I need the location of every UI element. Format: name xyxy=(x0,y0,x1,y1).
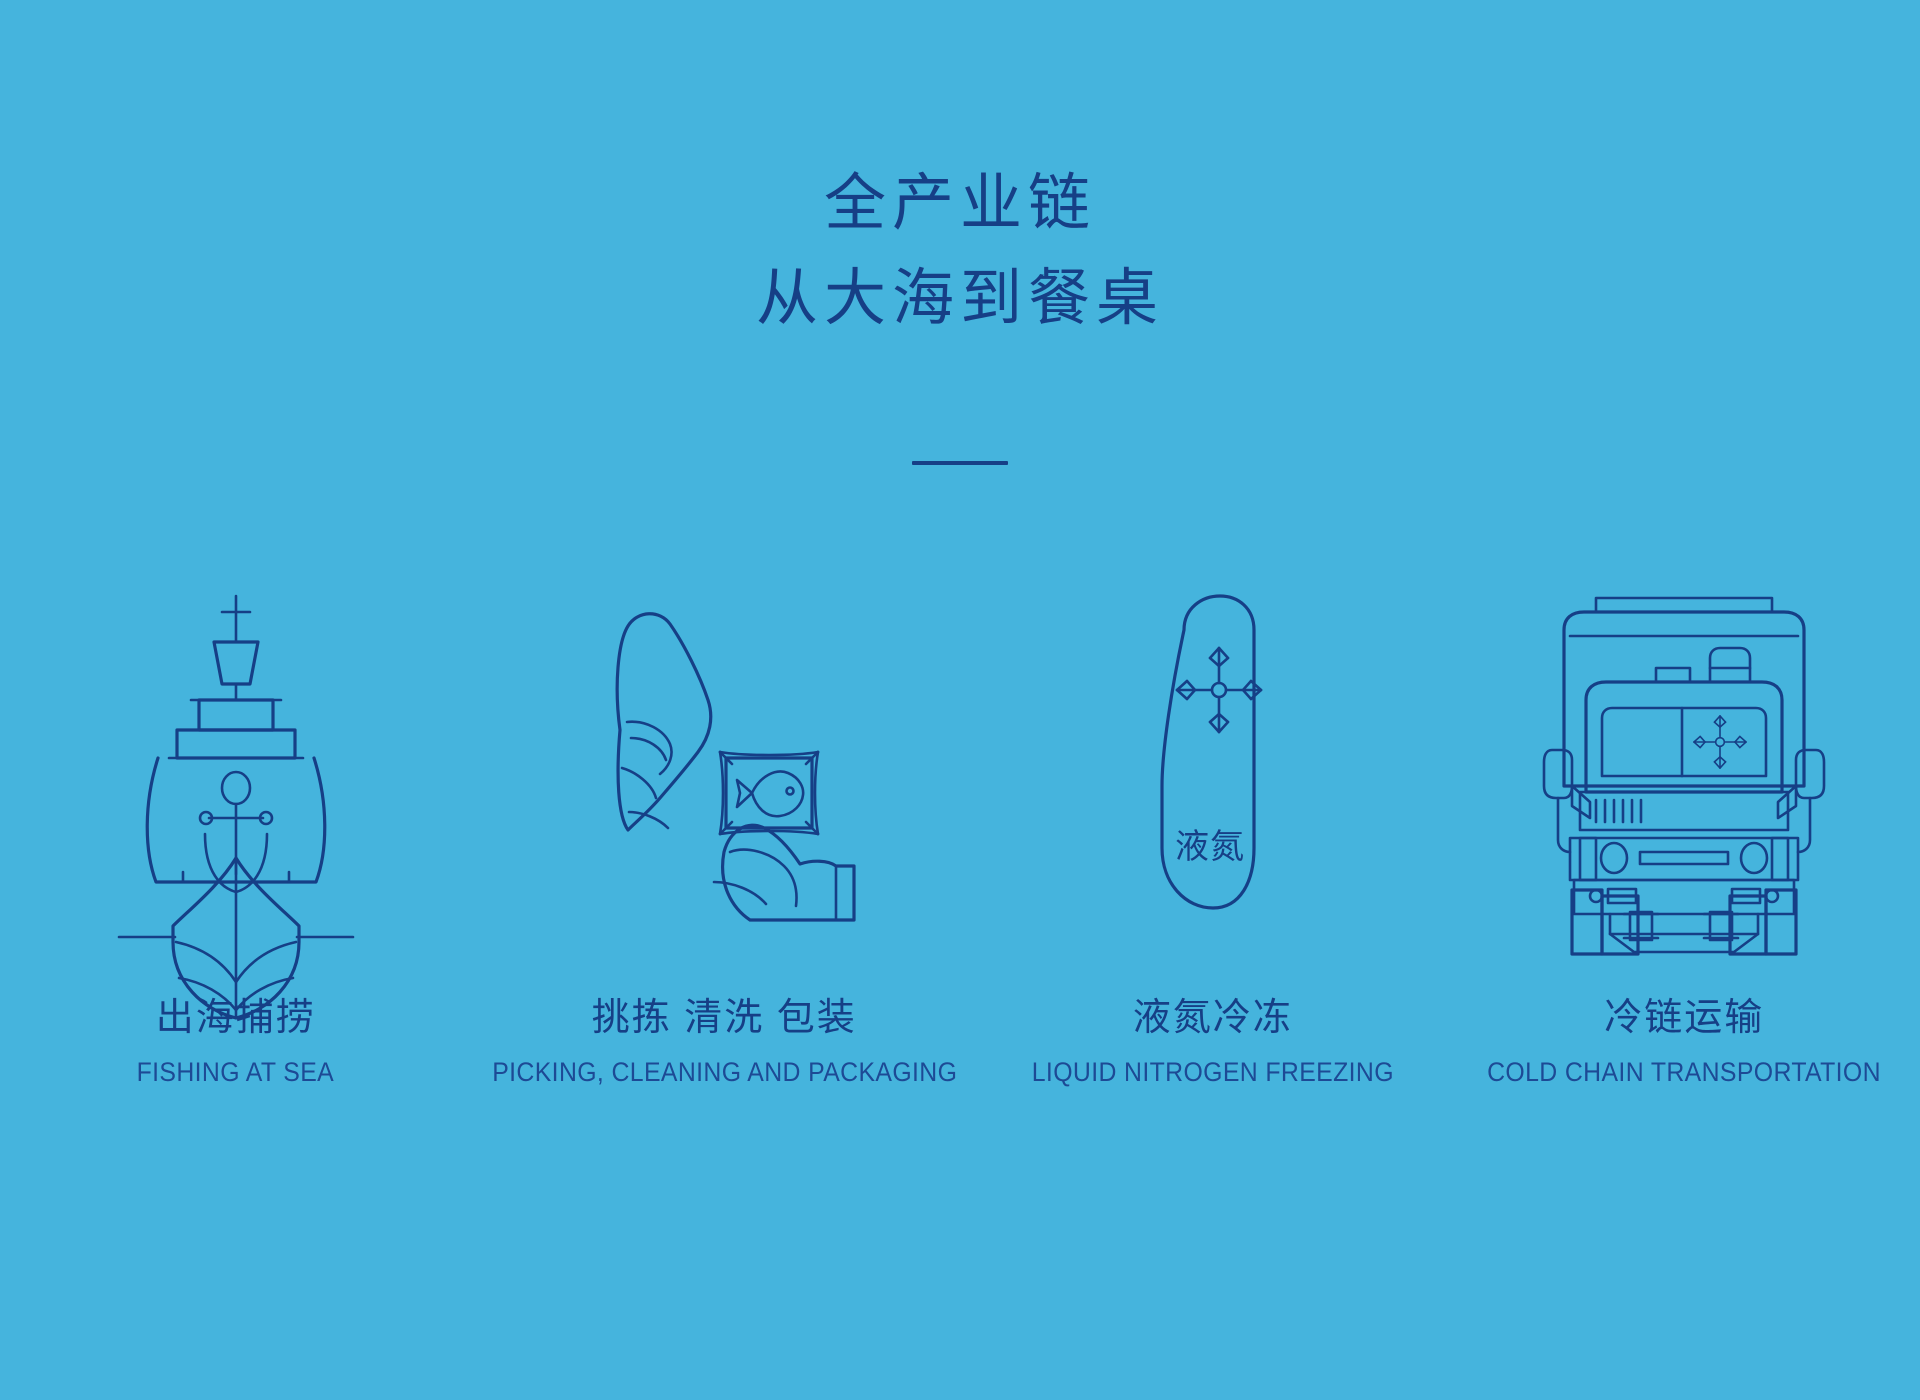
refrigerated-truck-icon xyxy=(1544,520,1824,920)
title-line-primary: 全产业链 xyxy=(0,170,1920,239)
title-divider xyxy=(912,461,1008,465)
capsule-text-label: 液氮 xyxy=(1175,828,1245,866)
step-label-zh: 挑拣 清洗 包装 xyxy=(592,986,857,1041)
process-step-fishing-at-sea[interactable]: 出海捕捞 FISHING AT SEA xyxy=(0,520,472,1088)
hands-passing-packaged-fish-icon xyxy=(574,520,874,920)
step-label-zh: 液氮冷冻 xyxy=(1133,986,1293,1041)
process-step-cold-chain-transportation[interactable]: 冷链运输 COLD CHAIN TRANSPORTATION xyxy=(1449,520,1920,1088)
step-label-en: COLD CHAIN TRANSPORTATION xyxy=(1487,1057,1881,1088)
step-label-en: LIQUID NITROGEN FREEZING xyxy=(1032,1057,1394,1088)
process-step-picking-cleaning-packaging[interactable]: 挑拣 清洗 包装 PICKING, CLEANING AND PACKAGING xyxy=(472,520,978,1088)
fishing-boat-icon xyxy=(111,520,361,920)
process-step-liquid-nitrogen-freezing[interactable]: 液氮 液氮冷冻 LIQUID NITROGEN FREEZING xyxy=(977,520,1449,1088)
infographic-canvas: 全产业链 从大海到餐桌 xyxy=(0,0,1920,1400)
step-label-zh: 冷链运输 xyxy=(1604,986,1764,1041)
page-title: 全产业链 从大海到餐桌 xyxy=(0,170,1920,335)
step-label-zh: 出海捕捞 xyxy=(156,986,316,1041)
process-steps-row: 出海捕捞 FISHING AT SEA xyxy=(0,520,1920,1088)
liquid-nitrogen-capsule-icon: 液氮 xyxy=(1128,520,1298,920)
step-label-en: PICKING, CLEANING AND PACKAGING xyxy=(492,1057,957,1088)
title-line-secondary: 从大海到餐桌 xyxy=(0,265,1920,334)
title-divider-container xyxy=(0,452,1920,470)
step-label-en: FISHING AT SEA xyxy=(137,1057,334,1088)
